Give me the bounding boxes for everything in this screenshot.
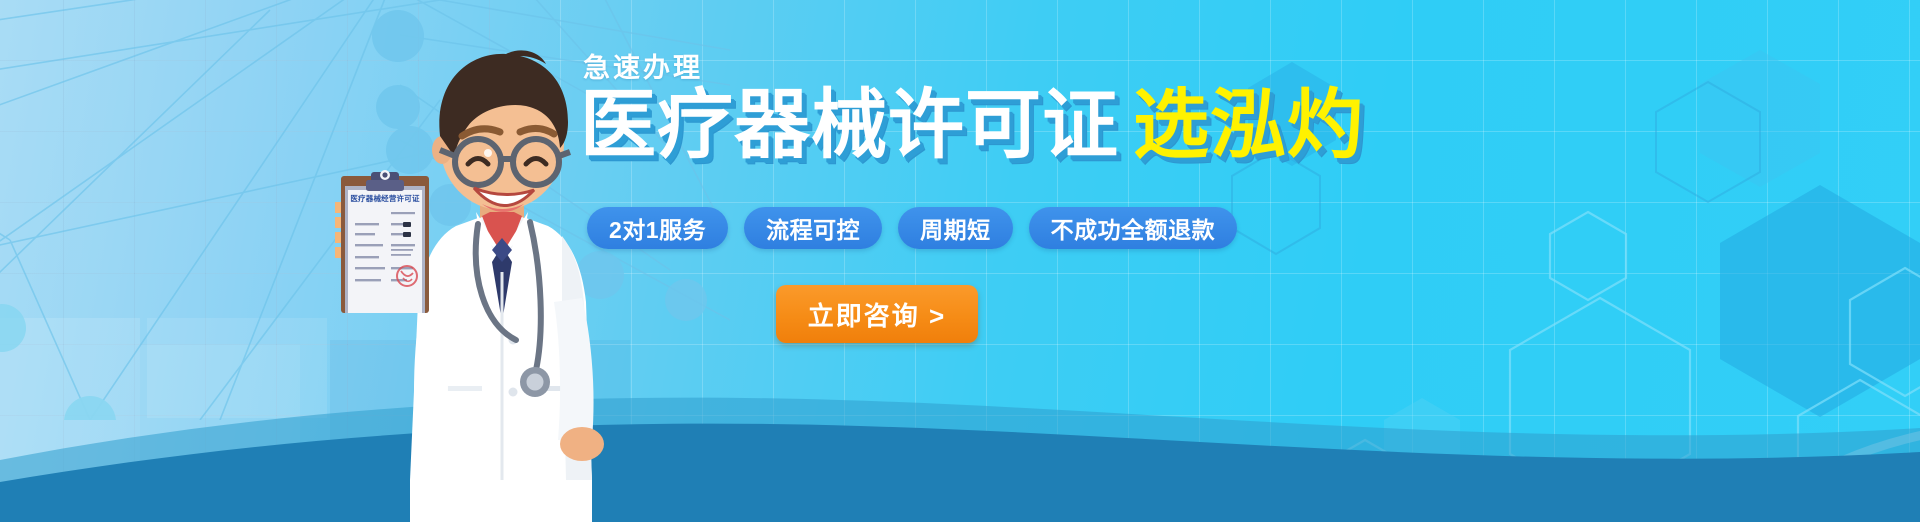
promo-banner: 医疗器械经营许可证 急速办理 医疗器械许可证选泓灼 2对1服务 流程可控 周期短… [0, 0, 1920, 522]
clipboard: 医疗器械经营许可证 [335, 168, 435, 313]
headline-primary: 医疗器械许可证 [580, 83, 1119, 168]
eyebrow-text: 急速办理 [583, 46, 703, 85]
headline: 医疗器械许可证选泓灼 [580, 88, 1364, 164]
headline-accent: 选泓灼 [1133, 83, 1364, 168]
feature-pill-4[interactable]: 不成功全额退款 [1029, 207, 1238, 249]
feature-pill-2[interactable]: 流程可控 [744, 207, 882, 249]
clipboard-document-title: 医疗器械经营许可证 [343, 195, 427, 203]
banner-content: 急速办理 医疗器械许可证选泓灼 2对1服务 流程可控 周期短 不成功全额退款 立… [583, 0, 1363, 522]
consult-now-button[interactable]: 立即咨询 > [776, 285, 978, 343]
feature-pill-1[interactable]: 2对1服务 [587, 207, 728, 249]
feature-pill-list: 2对1服务 流程可控 周期短 不成功全额退款 [587, 207, 1237, 249]
feature-pill-3[interactable]: 周期短 [898, 207, 1013, 249]
